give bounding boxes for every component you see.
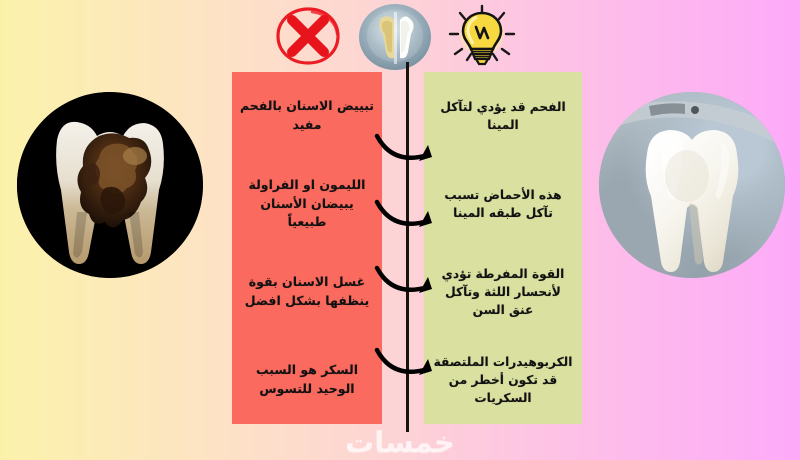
myth-text-1: تبييض الاسنان بالفحم مفيد (240, 97, 374, 135)
myth-text-2: الليمون او الفراولة يبيضان الأسنان طبيعي… (240, 176, 374, 232)
healthy-tooth-illustration (599, 92, 785, 278)
facts-panel: الفحم قد يؤدي لتآكل المينا هذه الأحماض ت… (424, 72, 582, 424)
lightbulb-icon (447, 4, 517, 70)
myths-panel: تبييض الاسنان بالفحم مفيد الليمون او الف… (232, 72, 382, 424)
tooth-badge-icon (357, 2, 433, 72)
myth-text-4: السكر هو السبب الوحيد للتسوس (240, 361, 374, 399)
myth-text-3: غسل الاسنان بقوة ينظفها بشكل افضل (240, 273, 374, 311)
myth-row-2: الليمون او الفراولة يبيضان الأسنان طبيعي… (232, 160, 382, 248)
fact-row-2: هذه الأحماض تسبب تآكل طبقه المينا (424, 160, 582, 248)
myth-row-1: تبييض الاسنان بالفحم مفيد (232, 72, 382, 160)
fact-row-4: الكربوهيدرات الملتصقة قد تكون أخطر من ال… (424, 336, 582, 424)
decayed-tooth-photo (17, 92, 203, 278)
fact-text-4: الكربوهيدرات الملتصقة قد تكون أخطر من ال… (432, 353, 574, 408)
fact-text-3: القوة المفرطة تؤدي لأنحسار اللثة وتآكل ع… (432, 265, 574, 320)
center-divider-line (406, 62, 409, 432)
fact-text-2: هذه الأحماض تسبب تآكل طبقه المينا (432, 186, 574, 223)
red-x-circle-icon (272, 4, 344, 68)
healthy-tooth-photo (599, 92, 785, 278)
infographic-canvas: تبييض الاسنان بالفحم مفيد الليمون او الف… (0, 0, 800, 460)
myth-row-4: السكر هو السبب الوحيد للتسوس (232, 336, 382, 424)
watermark: خمسات (0, 424, 800, 460)
myth-row-3: غسل الاسنان بقوة ينظفها بشكل افضل (232, 248, 382, 336)
fact-row-3: القوة المفرطة تؤدي لأنحسار اللثة وتآكل ع… (424, 248, 582, 336)
decayed-tooth-illustration (17, 92, 203, 278)
fact-text-1: الفحم قد يؤدي لتآكل المينا (432, 98, 574, 135)
fact-row-1: الفحم قد يؤدي لتآكل المينا (424, 72, 582, 160)
